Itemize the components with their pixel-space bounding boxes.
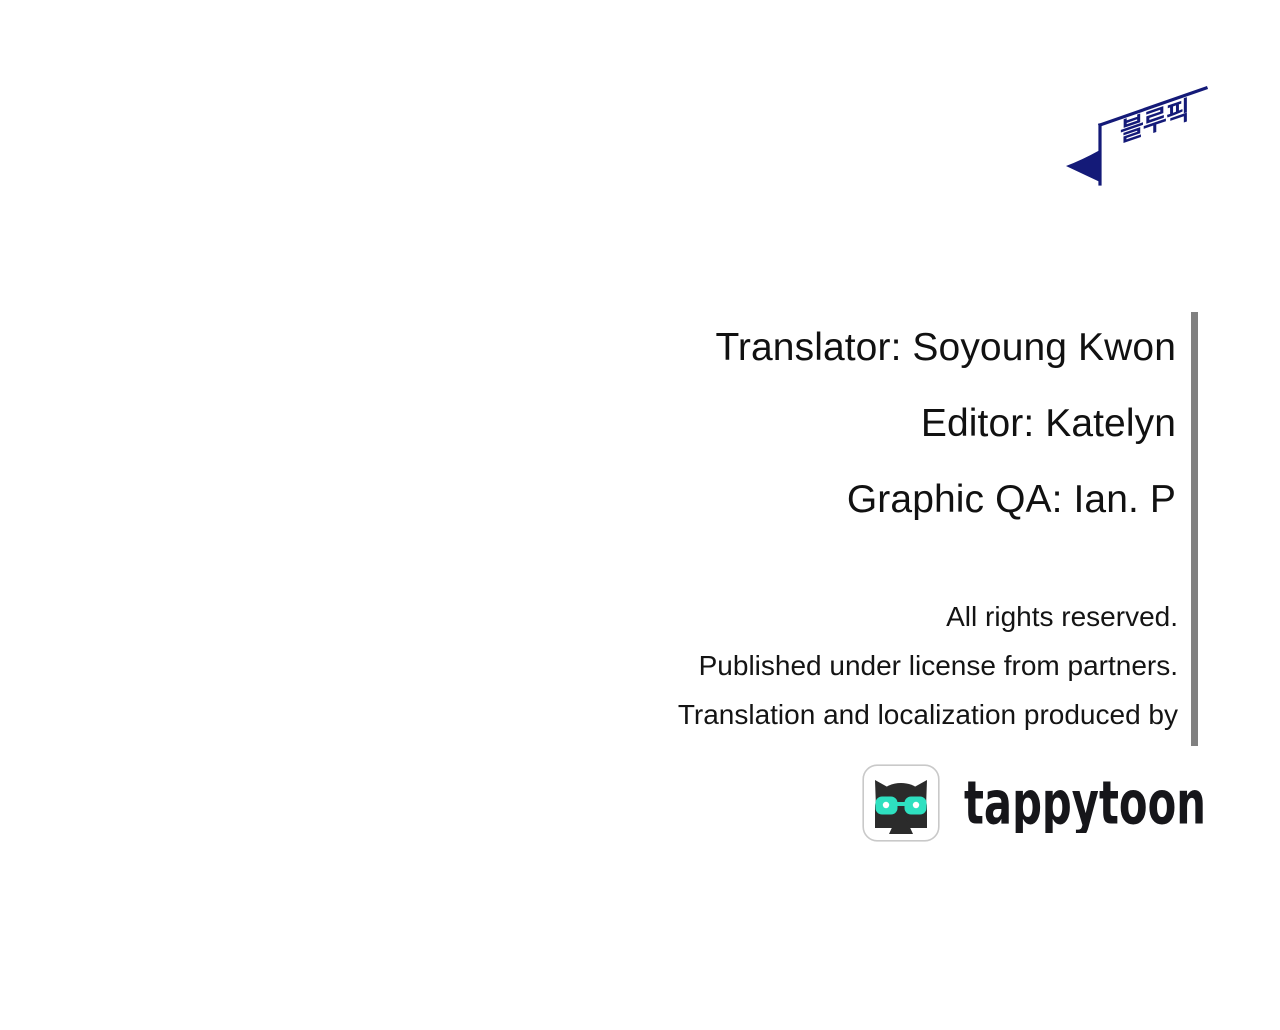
tappytoon-wordmark-text: tappytoon: [964, 773, 1206, 833]
credit-line-graphic-qa: Graphic QA: Ian. P: [300, 462, 1176, 538]
tappytoon-cat-icon: [862, 764, 940, 842]
vertical-divider-bar: [1191, 312, 1198, 746]
bluepic-logo: 블루픽: [1056, 78, 1216, 198]
tappytoon-logo-lockup: tappytoon: [862, 762, 1208, 844]
legal-line-rights: All rights reserved.: [300, 592, 1178, 641]
legal-line-license: Published under license from partners.: [300, 641, 1178, 690]
tappytoon-wordmark: tappytoon: [964, 773, 1208, 833]
credit-line-editor: Editor: Katelyn: [300, 386, 1176, 462]
bluepic-pennant-triangle: [1066, 150, 1100, 182]
cat-eye-left: [883, 802, 889, 808]
credits-page: 블루픽 Translator: Soyoung Kwon Editor: Kat…: [0, 0, 1280, 1030]
cat-eye-right: [913, 802, 919, 808]
credits-block: Translator: Soyoung Kwon Editor: Katelyn…: [300, 310, 1176, 538]
bluepic-korean-text: 블루픽: [1120, 95, 1189, 149]
svg-text:블루픽: 블루픽: [1120, 95, 1189, 149]
legal-notice-block: All rights reserved. Published under lic…: [300, 592, 1178, 739]
credit-line-translator: Translator: Soyoung Kwon: [300, 310, 1176, 386]
legal-line-produced-by: Translation and localization produced by: [300, 690, 1178, 739]
